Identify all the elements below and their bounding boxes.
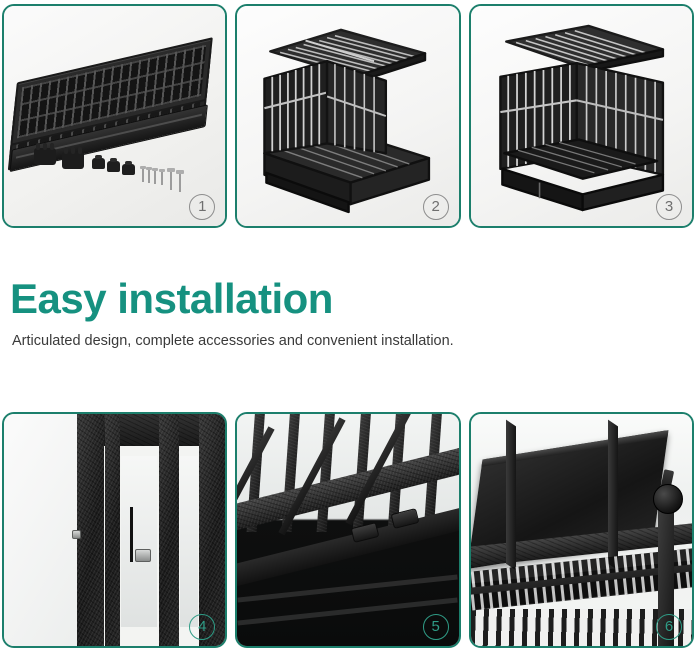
caster-wheel-part <box>34 148 56 165</box>
caster-wheel-icon <box>653 484 683 514</box>
latch-pin-icon <box>72 530 81 539</box>
panel-row-bottom: 4 <box>0 412 696 648</box>
latch-icon <box>135 549 151 562</box>
screw-part <box>142 166 144 182</box>
panel-top-frame-hinge-closeup[interactable]: 5 <box>235 412 460 648</box>
page-subtitle: Articulated design, complete accessories… <box>12 332 686 350</box>
panel-removable-tray-and-caster-closeup[interactable]: 6 <box>469 412 694 648</box>
panel-flat-packed-crate-with-accessories[interactable]: 1 <box>2 4 227 228</box>
panel-number-badge: 5 <box>423 614 449 640</box>
panel-number-badge: 6 <box>656 614 682 640</box>
panel-3-image <box>471 6 692 226</box>
assembled-crate-lineart <box>471 6 692 226</box>
panel-assembled-crate-top-open[interactable]: 3 <box>469 4 694 228</box>
bolt-part <box>170 168 172 190</box>
headline-block: Easy installation Articulated design, co… <box>10 276 686 350</box>
panel-4-image <box>4 414 225 646</box>
screw-part <box>154 168 156 184</box>
screw-part <box>148 167 150 183</box>
rubber-foot-part <box>122 164 135 175</box>
rubber-foot-part <box>107 161 120 172</box>
caster-wheel-part <box>62 152 84 169</box>
page-title: Easy installation <box>10 276 686 322</box>
crate-base-lineart <box>237 6 458 226</box>
panel-6-image <box>471 414 692 646</box>
installation-infographic: 1 <box>0 0 696 650</box>
bolt-part <box>179 170 181 192</box>
panel-frame-latch-closeup[interactable]: 4 <box>2 412 227 648</box>
panel-number-badge: 3 <box>656 194 682 220</box>
panel-2-image <box>237 6 458 226</box>
panel-crate-base-with-side-panels[interactable]: 2 <box>235 4 460 228</box>
panel-5-image <box>237 414 458 646</box>
panel-1-image <box>4 6 225 226</box>
panel-number-badge: 2 <box>423 194 449 220</box>
panel-row-top: 1 <box>0 4 696 228</box>
screw-part <box>161 169 163 185</box>
rubber-foot-part <box>92 158 105 169</box>
